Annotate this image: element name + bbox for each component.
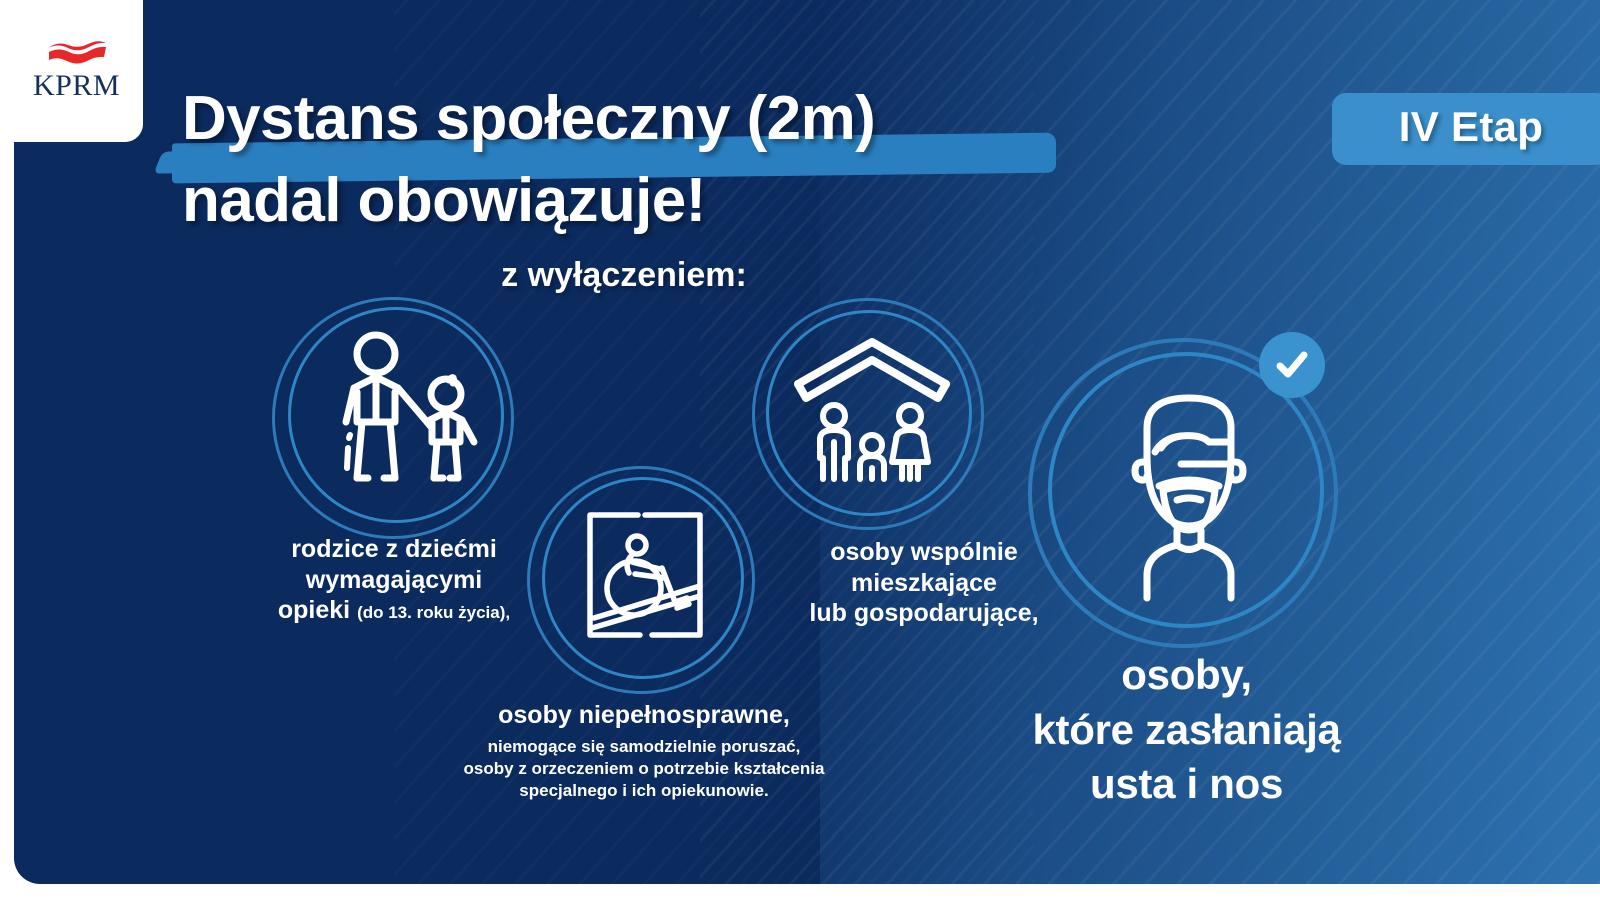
caption-line-3: usta i nos <box>969 757 1404 812</box>
kprm-logo: KPRM <box>10 0 143 142</box>
page-title-line-1: Dystans społeczny (2m) <box>182 78 875 160</box>
check-badge <box>1259 332 1325 398</box>
page-title-line-2: nadal obowiązuje! <box>182 160 875 242</box>
caption-line-2: mieszkające <box>774 568 1074 599</box>
wheelchair-ramp-icon <box>582 512 708 638</box>
caption-sub-line-3: specjalnego i ich opiekunowie. <box>434 780 854 802</box>
check-icon <box>1272 345 1312 385</box>
caption-parents-with-children: rodzice z dziećmi wymagającymi opieki (d… <box>244 534 544 626</box>
parent-and-child-icon <box>324 330 494 490</box>
stage-badge: IV Etap <box>1332 93 1600 165</box>
caption-line-2: które zasłaniają <box>969 703 1404 758</box>
caption-masked-persons: osoby, które zasłaniają usta i nos <box>969 648 1404 812</box>
caption-age-note: (do 13. roku życia), <box>357 603 510 622</box>
caption-line-1: osoby, <box>969 648 1404 703</box>
polish-flag-swoosh-icon <box>46 39 108 65</box>
page-subtitle: z wyłączeniem: <box>182 256 1066 295</box>
poster-card: rodzice z dziećmi wymagającymi opieki (d… <box>14 0 1600 884</box>
family-under-roof-icon <box>792 336 952 486</box>
caption-main: osoby niepełnosprawne, <box>434 700 854 731</box>
caption-line-3: lub gospodarujące, <box>774 598 1074 629</box>
caption-line-1: osoby wspólnie <box>774 537 1074 568</box>
kprm-logo-text: KPRM <box>33 69 120 103</box>
caption-sub-line-2: osoby z orzeczeniem o potrzebie kształce… <box>434 758 854 780</box>
caption-line-2: wymagającymi <box>244 565 544 596</box>
caption-disabled-persons: osoby niepełnosprawne, niemogące się sam… <box>434 700 854 802</box>
infographic-poster: rodzice z dziećmi wymagającymi opieki (d… <box>0 0 1600 900</box>
caption-line-1: rodzice z dziećmi <box>244 534 544 565</box>
caption-line-3: opieki <box>278 596 350 624</box>
masked-face-icon <box>1119 390 1259 605</box>
caption-sub-line-1: niemogące się samodzielnie poruszać, <box>434 736 854 758</box>
stage-badge-label: IV Etap <box>1399 103 1543 151</box>
caption-cohabiting-persons: osoby wspólnie mieszkające lub gospodaru… <box>774 537 1074 629</box>
header-block: Dystans społeczny (2m) nadal obowiązuje!… <box>182 78 875 242</box>
